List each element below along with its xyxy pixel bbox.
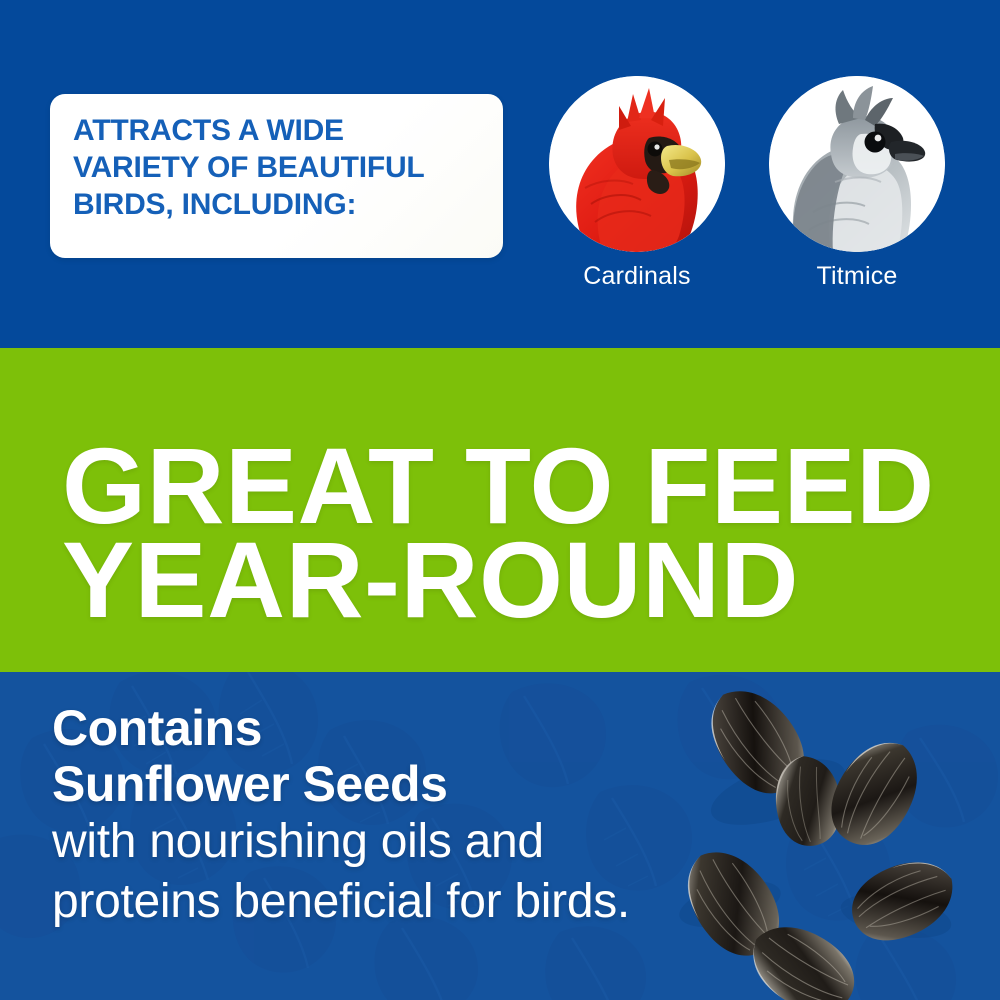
bottom-bold-line-2: Sunflower Seeds [52, 756, 752, 812]
bottom-blue-panel: Contains Sunflower Seeds with nourishing… [0, 672, 1000, 1000]
headline-card: ATTRACTS A WIDE VARIETY OF BEAUTIFUL BIR… [50, 94, 503, 258]
bird-titmouse: Titmice [769, 76, 945, 252]
bird-titmouse-label: Titmice [739, 262, 975, 291]
top-blue-panel: ATTRACTS A WIDE VARIETY OF BEAUTIFUL BIR… [0, 0, 1000, 348]
titmouse-illustration-icon [769, 76, 945, 252]
bird-cardinal: Cardinals [549, 76, 725, 252]
headline-text: ATTRACTS A WIDE VARIETY OF BEAUTIFUL BIR… [73, 112, 493, 223]
green-banner: GREAT TO FEED YEAR-ROUND [0, 348, 1000, 672]
bottom-light-line-1: with nourishing oils and [52, 812, 752, 872]
cardinal-illustration-icon [549, 76, 725, 252]
product-feature-poster: ATTRACTS A WIDE VARIETY OF BEAUTIFUL BIR… [0, 0, 1000, 1000]
bottom-bold-line-1: Contains [52, 700, 752, 756]
banner-line-2: YEAR-ROUND [62, 526, 799, 634]
bird-titmouse-disc [769, 76, 945, 252]
bottom-light-line-2: proteins beneficial for birds. [52, 872, 752, 932]
bottom-copy: Contains Sunflower Seeds with nourishing… [52, 700, 752, 932]
bird-cardinal-label: Cardinals [519, 262, 755, 291]
bird-cardinal-disc [549, 76, 725, 252]
sunflower-seeds-illustration-icon [660, 672, 1000, 1000]
